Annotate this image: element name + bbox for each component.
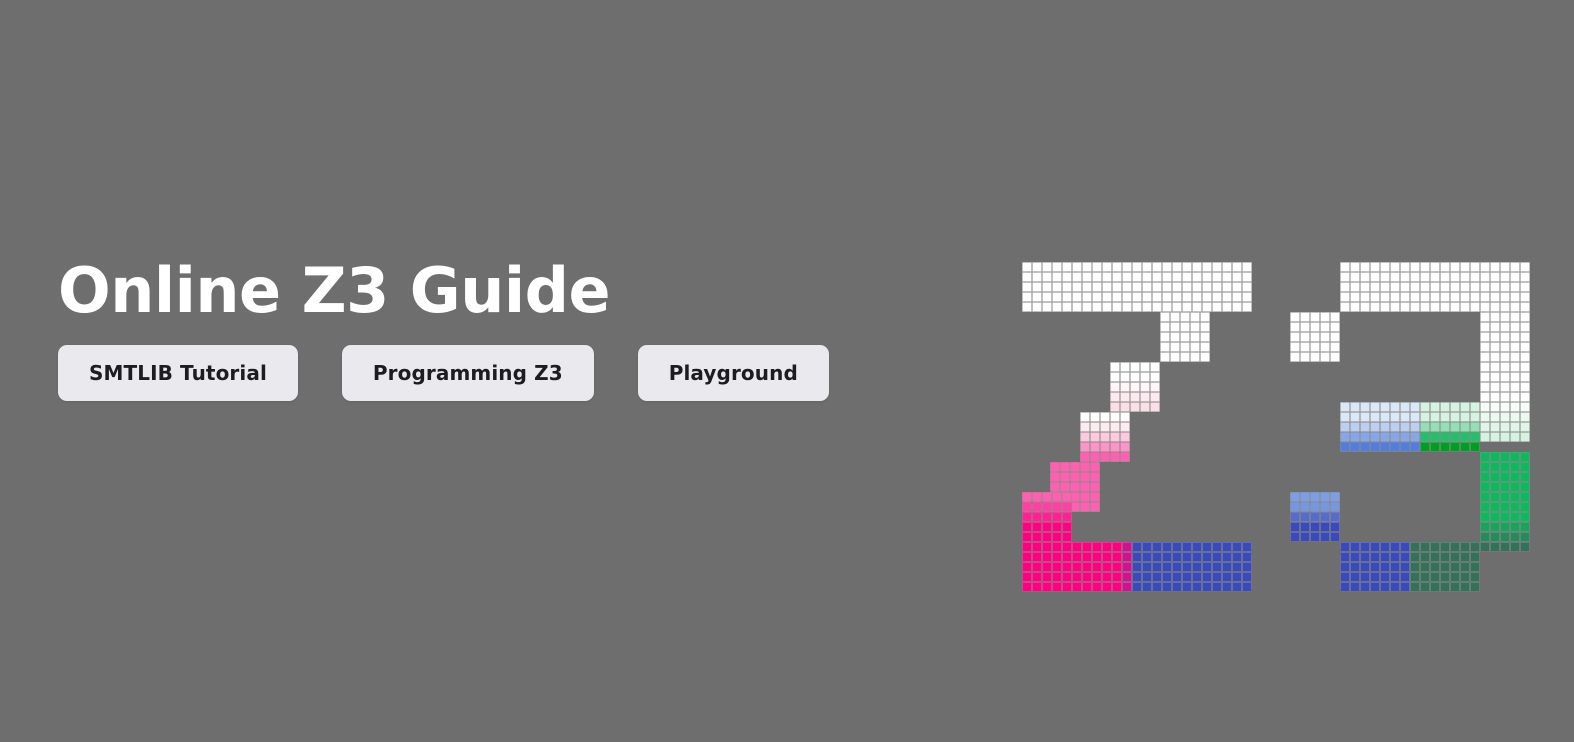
pixel-cell (1162, 262, 1172, 272)
pixel-cell (1320, 322, 1330, 332)
pixel-cell (1500, 362, 1510, 372)
pixel-cell (1390, 572, 1400, 582)
pixel-cell (1082, 562, 1092, 572)
pixel-cell (1060, 482, 1070, 492)
pixel-cell (1122, 272, 1132, 282)
pixel-cell (1440, 442, 1450, 452)
pixel-cell (1480, 382, 1490, 392)
pixel-cell (1480, 512, 1490, 522)
z-bottom-bar (1022, 542, 1252, 592)
pixel-cell (1470, 282, 1480, 292)
pixel-cell (1242, 262, 1252, 272)
pixel-cell (1112, 552, 1122, 562)
pixel-cell (1032, 582, 1042, 592)
pixel-cell (1330, 512, 1340, 522)
pixel-cell (1132, 292, 1142, 302)
pixel-cell (1410, 412, 1420, 422)
pixel-cell (1490, 472, 1500, 482)
pixel-cell (1122, 302, 1132, 312)
pixel-cell (1102, 572, 1112, 582)
pixel-cell (1142, 572, 1152, 582)
pixel-cell (1090, 462, 1100, 472)
pixel-cell (1062, 582, 1072, 592)
pixel-cell (1212, 542, 1222, 552)
pixel-cell (1072, 282, 1082, 292)
pixel-cell (1510, 522, 1520, 532)
pixel-cell (1440, 562, 1450, 572)
pixel-cell (1440, 262, 1450, 272)
hero-text-column: Online Z3 Guide SMTLIB Tutorial Programm… (58, 258, 958, 401)
pixel-cell (1490, 372, 1500, 382)
pixel-cell (1142, 262, 1152, 272)
pixel-cell (1102, 562, 1112, 572)
pixel-cell (1490, 402, 1500, 412)
pixel-cell (1032, 492, 1042, 502)
pixel-cell (1122, 282, 1132, 292)
pixel-cell (1360, 282, 1370, 292)
z-step-2 (1110, 362, 1160, 412)
pixel-cell (1202, 562, 1212, 572)
pixel-cell (1070, 462, 1080, 472)
pixel-cell (1142, 542, 1152, 552)
pixel-cell (1042, 502, 1052, 512)
pixel-cell (1520, 412, 1530, 422)
pixel-cell (1420, 442, 1430, 452)
pixel-cell (1330, 532, 1340, 542)
pixel-cell (1500, 532, 1510, 542)
pixel-cell (1520, 472, 1530, 482)
pixel-cell (1140, 392, 1150, 402)
pixel-cell (1490, 352, 1500, 362)
pixel-cell (1420, 432, 1430, 442)
pixel-cell (1050, 472, 1060, 482)
pixel-cell (1090, 472, 1100, 482)
pixel-cell (1150, 372, 1160, 382)
pixel-cell (1032, 542, 1042, 552)
pixel-cell (1340, 432, 1350, 442)
pixel-cell (1520, 302, 1530, 312)
pixel-cell (1500, 432, 1510, 442)
pixel-cell (1062, 292, 1072, 302)
pixel-cell (1440, 302, 1450, 312)
pixel-cell (1202, 302, 1212, 312)
pixel-cell (1052, 282, 1062, 292)
pixel-cell (1350, 552, 1360, 562)
pixel-cell (1162, 302, 1172, 312)
smtlib-tutorial-button[interactable]: SMTLIB Tutorial (58, 345, 298, 401)
pixel-cell (1470, 542, 1480, 552)
pixel-cell (1300, 532, 1310, 542)
pixel-cell (1400, 552, 1410, 562)
pixel-cell (1510, 332, 1520, 342)
pixel-cell (1062, 572, 1072, 582)
pixel-cell (1172, 272, 1182, 282)
pixel-cell (1182, 282, 1192, 292)
z-step-5 (1022, 492, 1072, 542)
pixel-cell (1510, 492, 1520, 502)
pixel-cell (1410, 282, 1420, 292)
pixel-cell (1200, 312, 1210, 322)
pixel-cell (1180, 322, 1190, 332)
pixel-cell (1500, 472, 1510, 482)
pixel-cell (1122, 262, 1132, 272)
pixel-cell (1122, 572, 1132, 582)
pixel-cell (1310, 342, 1320, 352)
pixel-cell (1370, 302, 1380, 312)
pixel-cell (1350, 262, 1360, 272)
pixel-cell (1520, 502, 1530, 512)
pixel-cell (1430, 562, 1440, 572)
pixel-cell (1340, 412, 1350, 422)
programming-z3-button[interactable]: Programming Z3 (342, 345, 594, 401)
pixel-cell (1500, 352, 1510, 362)
pixel-cell (1420, 282, 1430, 292)
playground-button[interactable]: Playground (638, 345, 829, 401)
three-right-upper (1480, 312, 1530, 442)
pixel-cell (1150, 362, 1160, 372)
pixel-cell (1120, 402, 1130, 412)
pixel-cell (1440, 402, 1450, 412)
pixel-cell (1190, 342, 1200, 352)
pixel-cell (1120, 452, 1130, 462)
pixel-cell (1140, 382, 1150, 392)
pixel-cell (1490, 272, 1500, 282)
pixel-cell (1110, 402, 1120, 412)
pixel-cell (1480, 302, 1490, 312)
pixel-cell (1032, 282, 1042, 292)
pixel-cell (1112, 292, 1122, 302)
pixel-cell (1380, 422, 1390, 432)
pixel-cell (1410, 432, 1420, 442)
pixel-cell (1340, 262, 1350, 272)
pixel-cell (1300, 322, 1310, 332)
pixel-cell (1520, 322, 1530, 332)
pixel-cell (1022, 552, 1032, 562)
pixel-cell (1090, 482, 1100, 492)
pixel-cell (1520, 292, 1530, 302)
hero-section: Online Z3 Guide SMTLIB Tutorial Programm… (0, 0, 1574, 742)
pixel-cell (1370, 282, 1380, 292)
pixel-cell (1390, 292, 1400, 302)
pixel-cell (1152, 572, 1162, 582)
pixel-cell (1162, 552, 1172, 562)
pixel-cell (1440, 552, 1450, 562)
pixel-cell (1080, 482, 1090, 492)
pixel-cell (1340, 542, 1350, 552)
pixel-cell (1450, 262, 1460, 272)
pixel-cell (1110, 412, 1120, 422)
pixel-cell (1480, 432, 1490, 442)
pixel-cell (1440, 412, 1450, 422)
pixel-cell (1450, 272, 1460, 282)
pixel-cell (1092, 582, 1102, 592)
pixel-cell (1420, 412, 1430, 422)
pixel-cell (1520, 382, 1530, 392)
pixel-cell (1340, 292, 1350, 302)
pixel-cell (1400, 572, 1410, 582)
pixel-cell (1520, 362, 1530, 372)
pixel-cell (1140, 362, 1150, 372)
pixel-cell (1022, 572, 1032, 582)
pixel-cell (1212, 552, 1222, 562)
pixel-cell (1460, 292, 1470, 302)
pixel-cell (1380, 272, 1390, 282)
pixel-cell (1050, 462, 1060, 472)
pixel-cell (1360, 412, 1370, 422)
pixel-cell (1480, 322, 1490, 332)
pixel-cell (1190, 352, 1200, 362)
pixel-cell (1410, 292, 1420, 302)
pixel-cell (1510, 342, 1520, 352)
pixel-cell (1450, 402, 1460, 412)
three-top-left (1290, 312, 1340, 362)
pixel-cell (1500, 312, 1510, 322)
pixel-cell (1140, 372, 1150, 382)
pixel-cell (1450, 582, 1460, 592)
pixel-cell (1500, 342, 1510, 352)
pixel-cell (1190, 322, 1200, 332)
pixel-cell (1330, 342, 1340, 352)
pixel-cell (1142, 282, 1152, 292)
pixel-cell (1152, 562, 1162, 572)
pixel-cell (1182, 262, 1192, 272)
pixel-cell (1072, 292, 1082, 302)
pixel-cell (1180, 352, 1190, 362)
pixel-cell (1130, 372, 1140, 382)
pixel-cell (1350, 402, 1360, 412)
pixel-cell (1490, 262, 1500, 272)
pixel-cell (1062, 532, 1072, 542)
pixel-cell (1430, 572, 1440, 582)
pixel-cell (1092, 272, 1102, 282)
pixel-cell (1490, 482, 1500, 492)
pixel-cell (1142, 292, 1152, 302)
pixel-cell (1490, 422, 1500, 432)
pixel-cell (1420, 262, 1430, 272)
pixel-cell (1082, 582, 1092, 592)
pixel-cell (1162, 582, 1172, 592)
pixel-cell (1202, 572, 1212, 582)
pixel-cell (1232, 542, 1242, 552)
pixel-cell (1132, 582, 1142, 592)
pixel-cell (1090, 412, 1100, 422)
pixel-cell (1300, 332, 1310, 342)
pixel-cell (1440, 272, 1450, 282)
pixel-cell (1102, 282, 1112, 292)
pixel-cell (1102, 552, 1112, 562)
pixel-cell (1042, 492, 1052, 502)
pixel-cell (1300, 352, 1310, 362)
pixel-cell (1082, 572, 1092, 582)
pixel-cell (1152, 302, 1162, 312)
pixel-cell (1102, 272, 1112, 282)
pixel-cell (1052, 562, 1062, 572)
pixel-cell (1052, 582, 1062, 592)
pixel-cell (1500, 302, 1510, 312)
pixel-cell (1460, 422, 1470, 432)
pixel-cell (1080, 452, 1090, 462)
pixel-cell (1192, 272, 1202, 282)
pixel-cell (1032, 532, 1042, 542)
pixel-cell (1162, 562, 1172, 572)
pixel-cell (1480, 522, 1490, 532)
pixel-cell (1130, 362, 1140, 372)
pixel-cell (1390, 412, 1400, 422)
pixel-cell (1182, 542, 1192, 552)
pixel-cell (1232, 302, 1242, 312)
pixel-cell (1130, 402, 1140, 412)
pixel-cell (1480, 332, 1490, 342)
pixel-cell (1192, 292, 1202, 302)
pixel-cell (1500, 262, 1510, 272)
pixel-cell (1480, 262, 1490, 272)
pixel-cell (1082, 302, 1092, 312)
pixel-cell (1110, 392, 1120, 402)
pixel-cell (1102, 582, 1112, 592)
pixel-cell (1090, 422, 1100, 432)
pixel-cell (1042, 532, 1052, 542)
pixel-cell (1202, 542, 1212, 552)
pixel-cell (1080, 432, 1090, 442)
pixel-cell (1112, 282, 1122, 292)
pixel-cell (1410, 552, 1420, 562)
pixel-cell (1202, 552, 1212, 562)
pixel-cell (1500, 332, 1510, 342)
pixel-cell (1300, 312, 1310, 322)
pixel-cell (1142, 582, 1152, 592)
pixel-cell (1112, 572, 1122, 582)
pixel-cell (1022, 262, 1032, 272)
pixel-cell (1320, 492, 1330, 502)
pixel-cell (1182, 292, 1192, 302)
pixel-cell (1450, 442, 1460, 452)
pixel-cell (1430, 432, 1440, 442)
pixel-cell (1520, 462, 1530, 472)
pixel-cell (1410, 272, 1420, 282)
pixel-cell (1032, 262, 1042, 272)
pixel-cell (1310, 502, 1320, 512)
pixel-cell (1510, 392, 1520, 402)
pixel-cell (1082, 282, 1092, 292)
pixel-cell (1242, 542, 1252, 552)
pixel-cell (1380, 582, 1390, 592)
pixel-cell (1160, 312, 1170, 322)
pixel-cell (1460, 562, 1470, 572)
pixel-cell (1490, 412, 1500, 422)
pixel-cell (1160, 332, 1170, 342)
pixel-cell (1410, 562, 1420, 572)
pixel-cell (1212, 282, 1222, 292)
pixel-cell (1460, 302, 1470, 312)
pixel-cell (1290, 532, 1300, 542)
pixel-cell (1410, 572, 1420, 582)
pixel-cell (1430, 582, 1440, 592)
pixel-cell (1232, 282, 1242, 292)
pixel-cell (1450, 412, 1460, 422)
pixel-cell (1470, 422, 1480, 432)
pixel-cell (1500, 482, 1510, 492)
pixel-cell (1500, 392, 1510, 402)
pixel-cell (1080, 422, 1090, 432)
pixel-cell (1390, 552, 1400, 562)
pixel-cell (1152, 582, 1162, 592)
pixel-cell (1480, 282, 1490, 292)
pixel-cell (1440, 282, 1450, 292)
pixel-cell (1510, 532, 1520, 542)
pixel-cell (1510, 272, 1520, 282)
pixel-cell (1450, 422, 1460, 432)
pixel-cell (1400, 292, 1410, 302)
pixel-cell (1520, 452, 1530, 462)
pixel-cell (1510, 372, 1520, 382)
pixel-cell (1410, 402, 1420, 412)
three-mid-bar (1340, 402, 1480, 452)
pixel-cell (1480, 312, 1490, 322)
pixel-cell (1120, 392, 1130, 402)
pixel-cell (1380, 292, 1390, 302)
pixel-cell (1092, 292, 1102, 302)
pixel-cell (1202, 292, 1212, 302)
pixel-cell (1350, 562, 1360, 572)
pixel-cell (1470, 412, 1480, 422)
pixel-cell (1242, 552, 1252, 562)
pixel-cell (1192, 542, 1202, 552)
pixel-cell (1460, 262, 1470, 272)
pixel-cell (1400, 562, 1410, 572)
pixel-cell (1520, 492, 1530, 502)
pixel-cell (1062, 272, 1072, 282)
pixel-cell (1222, 582, 1232, 592)
pixel-cell (1430, 412, 1440, 422)
pixel-cell (1110, 372, 1120, 382)
pixel-cell (1290, 352, 1300, 362)
pixel-cell (1320, 312, 1330, 322)
pixel-cell (1100, 422, 1110, 432)
pixel-cell (1162, 292, 1172, 302)
pixel-cell (1480, 402, 1490, 412)
pixel-cell (1060, 472, 1070, 482)
pixel-cell (1460, 552, 1470, 562)
pixel-cell (1170, 332, 1180, 342)
pixel-cell (1340, 282, 1350, 292)
pixel-cell (1242, 582, 1252, 592)
pixel-cell (1330, 492, 1340, 502)
pixel-cell (1420, 402, 1430, 412)
pixel-cell (1400, 422, 1410, 432)
z-top-bar (1022, 262, 1252, 312)
pixel-cell (1290, 342, 1300, 352)
pixel-cell (1162, 282, 1172, 292)
pixel-cell (1102, 262, 1112, 272)
pixel-cell (1440, 292, 1450, 302)
pixel-cell (1500, 292, 1510, 302)
pixel-cell (1400, 302, 1410, 312)
pixel-cell (1200, 332, 1210, 342)
pixel-cell (1360, 582, 1370, 592)
pixel-cell (1300, 492, 1310, 502)
pixel-cell (1510, 542, 1520, 552)
pixel-cell (1390, 542, 1400, 552)
pixel-cell (1520, 272, 1530, 282)
pixel-cell (1490, 362, 1500, 372)
pixel-cell (1172, 302, 1182, 312)
pixel-cell (1520, 332, 1530, 342)
pixel-cell (1022, 282, 1032, 292)
pixel-cell (1370, 292, 1380, 302)
pixel-cell (1032, 302, 1042, 312)
pixel-cell (1032, 572, 1042, 582)
pixel-cell (1330, 522, 1340, 532)
